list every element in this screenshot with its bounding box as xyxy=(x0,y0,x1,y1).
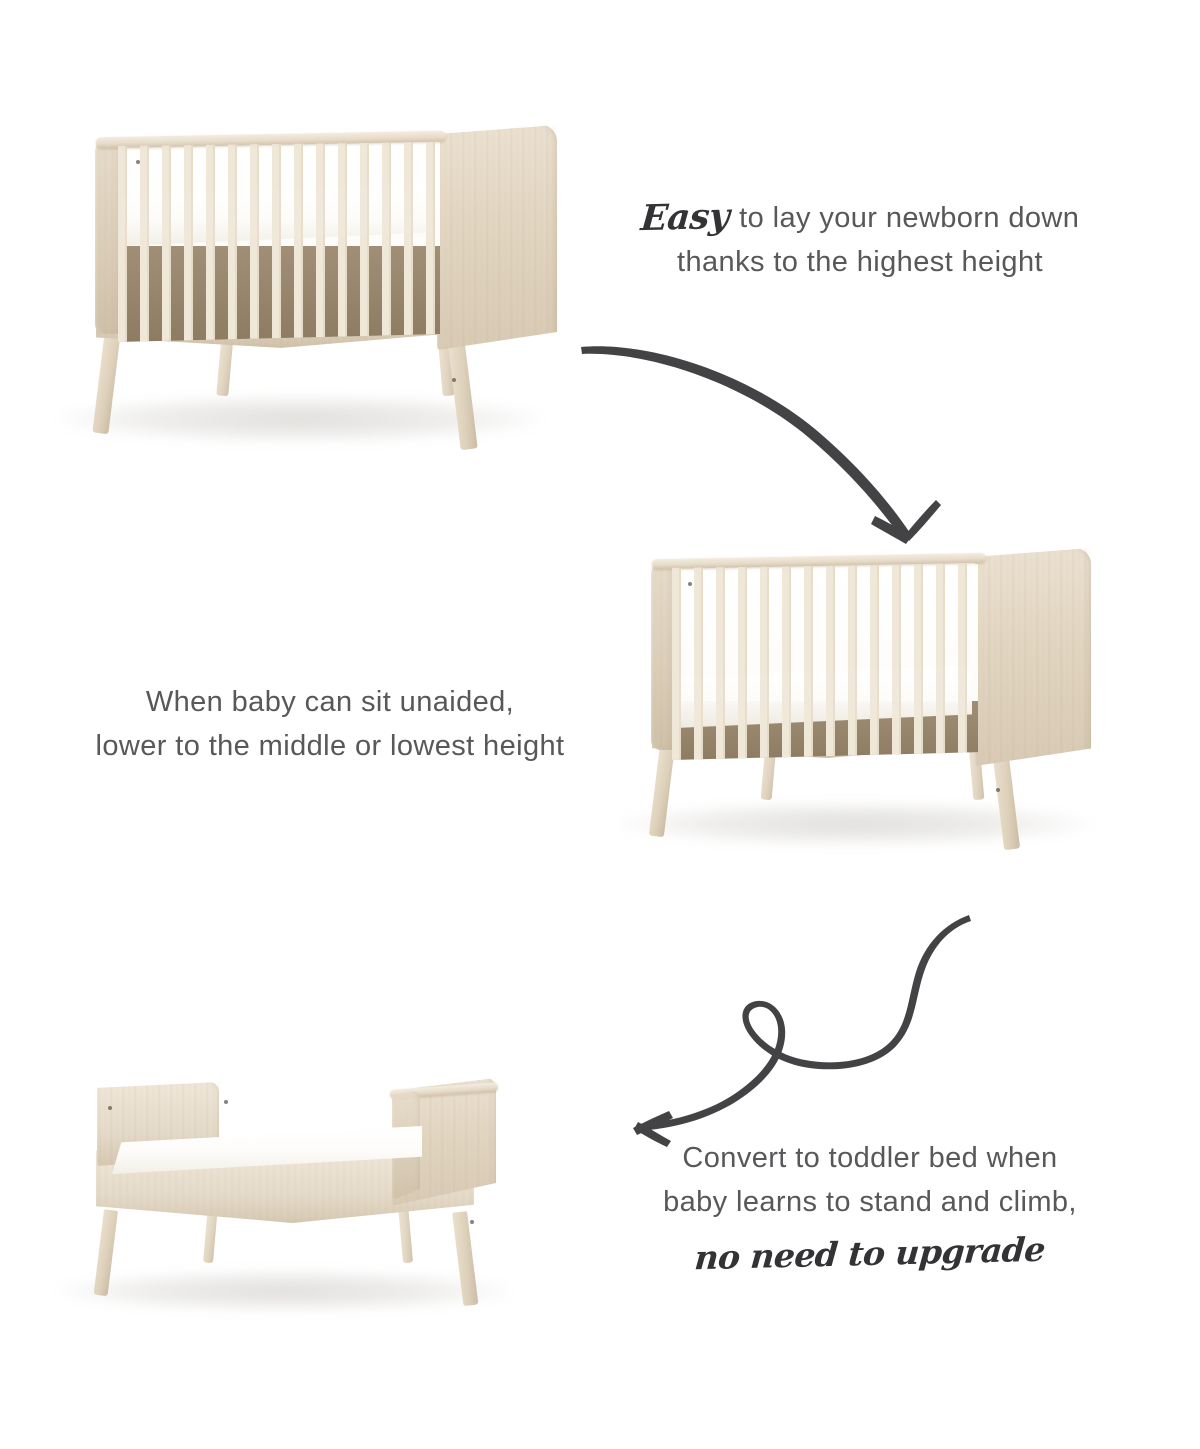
cot-fixing-screw xyxy=(688,582,692,586)
caption-highest-height: Easy to lay your newborn down thanks to … xyxy=(600,196,1120,284)
caption-line-1: When baby can sit unaided, xyxy=(50,680,610,724)
caption-line-2: thanks to the highest height xyxy=(600,240,1120,284)
bed-fixing-screw xyxy=(108,1106,112,1110)
cot-slat-overlay xyxy=(672,564,978,760)
cot-leg-front-right xyxy=(448,344,478,450)
caption-line-1: Easy to lay your newborn down xyxy=(600,196,1120,240)
caption-line-3: no need to upgrade xyxy=(640,1224,1100,1279)
bed-leg-front-right xyxy=(452,1211,478,1306)
floor-shadow xyxy=(60,1270,510,1312)
cot-end-panel-right xyxy=(437,125,557,350)
cot-end-panel-right xyxy=(975,548,1091,766)
cot-leg-front-left xyxy=(92,337,120,434)
looping-arrow-left-icon xyxy=(575,915,1015,1150)
stage-toddler-bed xyxy=(0,1060,600,1360)
bed-fixing-screw xyxy=(224,1100,228,1104)
infographic-canvas: Easy to lay your newborn down thanks to … xyxy=(0,0,1200,1449)
script-phrase-no-need-to-upgrade: no need to upgrade xyxy=(693,1225,1047,1284)
caption-line-1: Convert to toddler bed when xyxy=(640,1136,1100,1180)
cot-fixing-screw xyxy=(996,788,1000,792)
bed-leg-front-left xyxy=(94,1209,118,1296)
cot-fixing-screw xyxy=(452,378,456,382)
caption-toddler-bed: Convert to toddler bed when baby learns … xyxy=(640,1136,1100,1279)
cot-end-panel-left xyxy=(95,138,121,334)
cot-end-panel-left xyxy=(651,560,675,750)
stage-middle-height xyxy=(600,530,1200,930)
bed-leg-back-right xyxy=(398,1205,413,1264)
cot-leg-front-right xyxy=(992,749,1020,850)
caption-line-1-rest: to lay your newborn down xyxy=(731,202,1080,234)
stage-highest-height xyxy=(0,0,620,500)
caption-middle-height: When baby can sit unaided, lower to the … xyxy=(50,680,610,768)
curved-arrow-down-right-icon xyxy=(575,325,975,555)
script-word-easy: Easy xyxy=(639,201,730,235)
caption-line-2: baby learns to stand and climb, xyxy=(640,1180,1100,1224)
cot-slat-overlay xyxy=(118,142,440,342)
cot-leg-front-left xyxy=(649,744,675,837)
bed-fixing-screw xyxy=(470,1220,474,1224)
cot-fixing-screw xyxy=(136,160,140,164)
floor-shadow xyxy=(620,802,1090,846)
caption-line-2: lower to the middle or lowest height xyxy=(50,724,610,768)
